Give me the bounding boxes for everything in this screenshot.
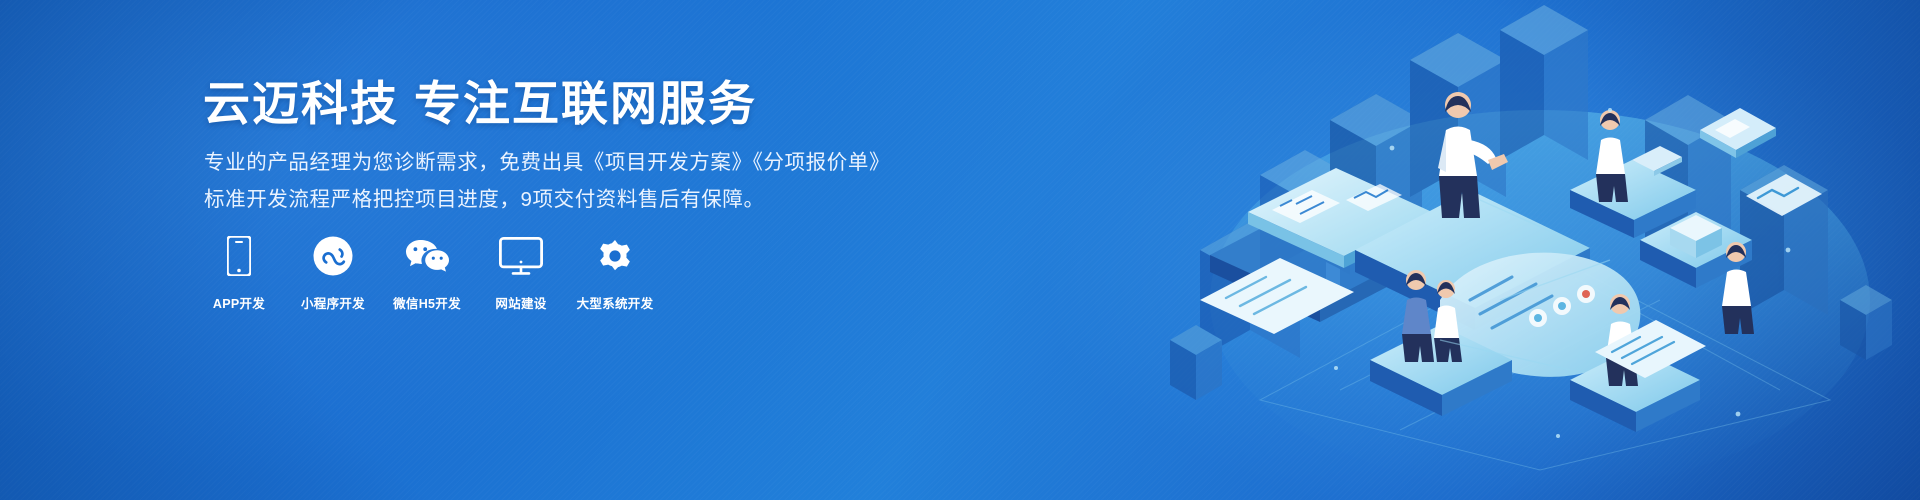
wechat-icon (403, 233, 451, 279)
service-label: 大型系统开发 (577, 293, 654, 312)
service-item-mini-program[interactable]: 小程序开发 (297, 233, 369, 312)
isometric-illustration (1140, 0, 1920, 500)
hero-banner: 云迈科技 专注互联网服务 专业的产品经理为您诊断需求，免费出具《项目开发方案》《… (0, 0, 1920, 500)
mobile-phone-icon (227, 233, 251, 279)
mini-program-icon (313, 233, 353, 279)
service-label: 小程序开发 (301, 293, 365, 312)
service-label: APP开发 (213, 293, 265, 312)
gear-icon (594, 233, 636, 279)
service-label: 微信H5开发 (393, 293, 461, 312)
banner-subtitle-line-2: 标准开发流程严格把控项目进度，9项交付资料售后有保障。 (204, 182, 765, 212)
banner-subtitle-line-1: 专业的产品经理为您诊断需求，免费出具《项目开发方案》《分项报价单》 (204, 145, 890, 175)
banner-content: 云迈科技 专注互联网服务 专业的产品经理为您诊断需求，免费出具《项目开发方案》《… (203, 0, 923, 500)
service-item-large-system[interactable]: 大型系统开发 (579, 233, 651, 312)
service-icon-row: APP开发 小程序开发 (203, 233, 651, 312)
service-item-app[interactable]: APP开发 (203, 233, 275, 312)
service-item-wechat[interactable]: 微信H5开发 (391, 233, 463, 312)
service-item-website[interactable]: 网站建设 (485, 233, 557, 312)
monitor-icon (499, 233, 543, 279)
banner-title: 云迈科技 专注互联网服务 (203, 78, 757, 130)
service-label: 网站建设 (495, 293, 546, 312)
